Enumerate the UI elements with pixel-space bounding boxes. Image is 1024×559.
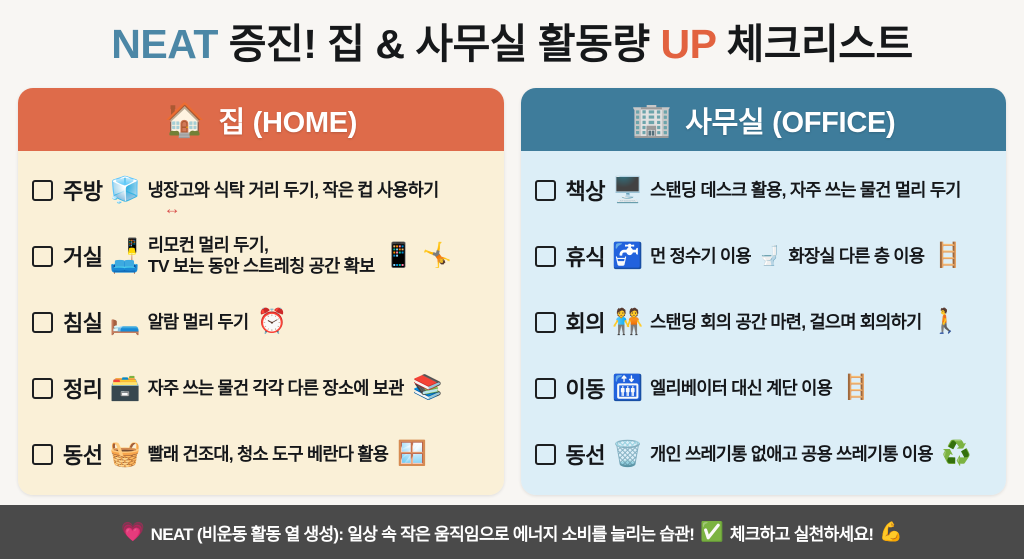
- row-text-secondary: 화장실 다른 층 이용: [789, 246, 925, 267]
- checklist-row-home-bedroom[interactable]: 침실 🛏️ 알람 멀리 두기 ⏰: [32, 298, 490, 346]
- checkbox-office-desk[interactable]: [535, 180, 556, 201]
- row-label: 거실: [63, 240, 102, 272]
- recycle-icon: ♻️: [942, 442, 972, 466]
- row-text: 스탠딩 데스크 활용, 자주 쓰는 물건 멀리 두기: [650, 180, 961, 201]
- checkbox-home-organizing[interactable]: [32, 378, 53, 399]
- row-text: 개인 쓰레기통 없애고 공용 쓰레기통 이용: [650, 444, 933, 465]
- desk-computer-icon: 🖥️: [612, 178, 643, 203]
- checklist-row-office-movement[interactable]: 동선 🗑️ 개인 쓰레기통 없애고 공용 쓰레기통 이용 ♻️: [535, 430, 993, 478]
- checklist-row-home-movement[interactable]: 동선 🧺 빨래 건조대, 청소 도구 베란다 활용 🪟: [32, 430, 490, 478]
- balcony-window-icon: 🪟: [397, 442, 427, 466]
- panel-office-header: 🏢 사무실 (OFFICE): [521, 88, 1007, 151]
- checkbox-home-livingroom[interactable]: [32, 246, 53, 267]
- title-neat: NEAT: [111, 21, 218, 67]
- footer-text-secondary: 체크하고 실천하세요!: [730, 520, 873, 545]
- row-label: 휴식: [566, 240, 605, 272]
- checklist-row-home-kitchen[interactable]: 주방 🧊 냉장고와 식탁 거리 두기, 작은 컵 사용하기 ↔: [32, 166, 490, 214]
- row-text: 리모컨 멀리 두기, TV 보는 동안 스트레칭 공간 확보: [148, 235, 375, 277]
- stairs-icon: 🪜: [933, 244, 963, 268]
- row-text: 자주 쓰는 물건 각각 다른 장소에 보관: [148, 378, 404, 399]
- toilet-icon: 🚽: [758, 247, 782, 266]
- panel-office-body: 책상 🖥️ 스탠딩 데스크 활용, 자주 쓰는 물건 멀리 두기 휴식 🚰 먼 …: [521, 151, 1007, 495]
- refrigerator-icon: 🧊: [109, 178, 140, 203]
- row-text: 냉장고와 식탁 거리 두기, 작은 컵 사용하기 ↔: [148, 180, 439, 201]
- elevator-icon: 🛗: [612, 376, 643, 401]
- panel-home-header: 🏠 집 (HOME): [18, 88, 504, 151]
- row-label: 회의: [566, 306, 605, 338]
- checkbox-home-bedroom[interactable]: [32, 312, 53, 333]
- row-label: 동선: [63, 438, 102, 470]
- title-bar: NEAT 증진! 집 & 사무실 활동량 UP 체크리스트: [0, 0, 1024, 88]
- page-title: NEAT 증진! 집 & 사무실 활동량 UP 체크리스트: [111, 24, 912, 65]
- row-label: 침실: [63, 306, 102, 338]
- checkbox-office-meeting[interactable]: [535, 312, 556, 333]
- sofa-remote-icon-group: 📱 🛋️: [109, 238, 140, 274]
- row-text: 스탠딩 회의 공간 마련, 걸으며 회의하기: [650, 312, 921, 333]
- remote-control-tail-icon: 📱: [384, 244, 414, 268]
- checkbox-office-movement[interactable]: [535, 444, 556, 465]
- bed-icon: 🛏️: [109, 310, 140, 335]
- check-mark-icon: ✅: [700, 523, 724, 542]
- checklist-row-office-transit[interactable]: 이동 🛗 엘리베이터 대신 계단 이용 🪜: [535, 364, 993, 412]
- laundry-basket-icon: 🧺: [109, 442, 140, 467]
- row-text: 알람 멀리 두기: [148, 312, 249, 333]
- distance-arrow-icon: ↔: [164, 201, 180, 216]
- title-middle: 증진! 집 & 사무실 활동량: [218, 21, 661, 67]
- title-up: UP: [660, 21, 715, 67]
- row-text-line2: TV 보는 동안 스트레칭 공간 확보: [148, 256, 375, 277]
- footer-text: NEAT (비운동 활동 열 생성): 일상 속 작은 움직임으로 에너지 소비…: [151, 520, 695, 545]
- panel-home: 🏠 집 (HOME) 주방 🧊 냉장고와 식탁 거리 두기, 작은 컵 사용하기…: [18, 88, 504, 495]
- row-text: 빨래 건조대, 청소 도구 베란다 활용: [148, 444, 389, 465]
- checklist-row-home-livingroom[interactable]: 거실 📱 🛋️ 리모컨 멀리 두기, TV 보는 동안 스트레칭 공간 확보 📱…: [32, 232, 490, 280]
- office-building-icon: 🏢: [631, 103, 672, 136]
- meeting-table-icon: 🧑‍🤝‍🧑: [612, 310, 643, 335]
- checkbox-office-break[interactable]: [535, 246, 556, 267]
- row-label: 동선: [566, 438, 605, 470]
- panel-home-body: 주방 🧊 냉장고와 식탁 거리 두기, 작은 컵 사용하기 ↔ 거실 📱 🛋️: [18, 151, 504, 495]
- row-text: 먼 정수기 이용: [650, 246, 751, 267]
- alarm-clock-icon: ⏰: [257, 310, 287, 334]
- row-label: 책상: [566, 174, 605, 206]
- row-label: 주방: [63, 174, 102, 206]
- trash-can-icon: 🗑️: [612, 442, 643, 467]
- storage-box-icon: 🗃️: [109, 376, 140, 401]
- panel-office-title: 사무실 (OFFICE): [685, 99, 895, 141]
- checklist-row-office-desk[interactable]: 책상 🖥️ 스탠딩 데스크 활용, 자주 쓰는 물건 멀리 두기: [535, 166, 993, 214]
- house-icon: 🏠: [164, 103, 205, 136]
- stairs-icon: 🪜: [841, 376, 871, 400]
- sofa-icon: 🛋️: [109, 250, 139, 274]
- water-cooler-icon: 🚰: [612, 244, 643, 269]
- checklist-row-office-break[interactable]: 휴식 🚰 먼 정수기 이용 🚽 화장실 다른 층 이용 🪜: [535, 232, 993, 280]
- row-text-line1: 냉장고와 식탁 거리 두기, 작은 컵 사용하기: [148, 180, 439, 200]
- checkbox-home-movement[interactable]: [32, 444, 53, 465]
- heart-icon: 💗: [121, 523, 145, 542]
- checkbox-home-kitchen[interactable]: [32, 180, 53, 201]
- flexed-biceps-icon: 💪: [879, 523, 903, 542]
- row-label: 정리: [63, 372, 102, 404]
- checkbox-office-transit[interactable]: [535, 378, 556, 399]
- footer-bar: 💗 NEAT (비운동 활동 열 생성): 일상 속 작은 움직임으로 에너지 …: [0, 505, 1024, 559]
- infographic-page: NEAT 증진! 집 & 사무실 활동량 UP 체크리스트 🏠 집 (HOME)…: [0, 0, 1024, 559]
- walking-people-icon: 🚶: [931, 310, 961, 334]
- row-text-line1: 리모컨 멀리 두기,: [148, 235, 268, 255]
- panels-container: 🏠 집 (HOME) 주방 🧊 냉장고와 식탁 거리 두기, 작은 컵 사용하기…: [0, 88, 1024, 505]
- title-tail: 체크리스트: [716, 21, 913, 67]
- bookshelf-icon: 📚: [413, 376, 443, 400]
- panel-home-title: 집 (HOME): [218, 99, 357, 141]
- row-text: 엘리베이터 대신 계단 이용: [650, 378, 832, 399]
- checklist-row-office-meeting[interactable]: 회의 🧑‍🤝‍🧑 스탠딩 회의 공간 마련, 걸으며 회의하기 🚶: [535, 298, 993, 346]
- panel-office: 🏢 사무실 (OFFICE) 책상 🖥️ 스탠딩 데스크 활용, 자주 쓰는 물…: [521, 88, 1007, 495]
- row-label: 이동: [566, 372, 605, 404]
- checklist-row-home-organizing[interactable]: 정리 🗃️ 자주 쓰는 물건 각각 다른 장소에 보관 📚: [32, 364, 490, 412]
- stretching-person-icon: 🤸: [422, 244, 452, 268]
